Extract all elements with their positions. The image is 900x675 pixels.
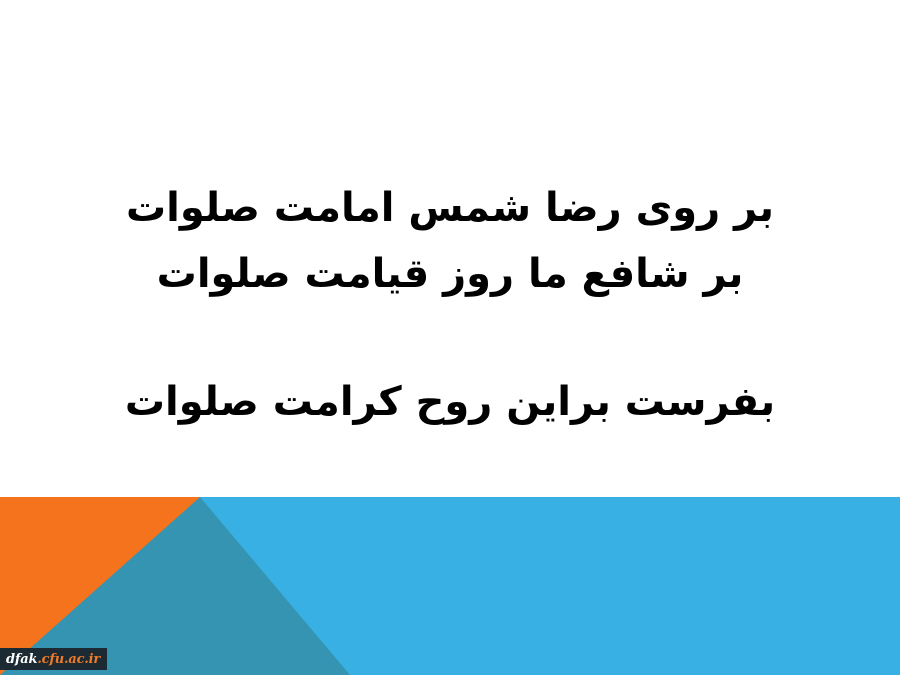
watermark-domain: .cfu.ac.ir: [37, 653, 100, 666]
footer-decoration-band: [0, 497, 900, 675]
poem-line-3: بفرست براین روح کرامت صلوات: [0, 369, 900, 435]
site-watermark: dfak.cfu.ac.ir: [0, 648, 107, 670]
poem-line-2: بر شافع ما روز قیامت صلوات: [0, 241, 900, 307]
presentation-slide: بر روی رضا شمس امامت صلوات بر شافع ما رو…: [0, 0, 900, 675]
footer-shapes-svg: [0, 497, 900, 675]
poem-text-block: بر روی رضا شمس امامت صلوات بر شافع ما رو…: [0, 175, 900, 435]
poem-line-1: بر روی رضا شمس امامت صلوات: [0, 175, 900, 241]
watermark-brand: dfak: [6, 653, 37, 666]
poem-line-spacer: [0, 307, 900, 369]
